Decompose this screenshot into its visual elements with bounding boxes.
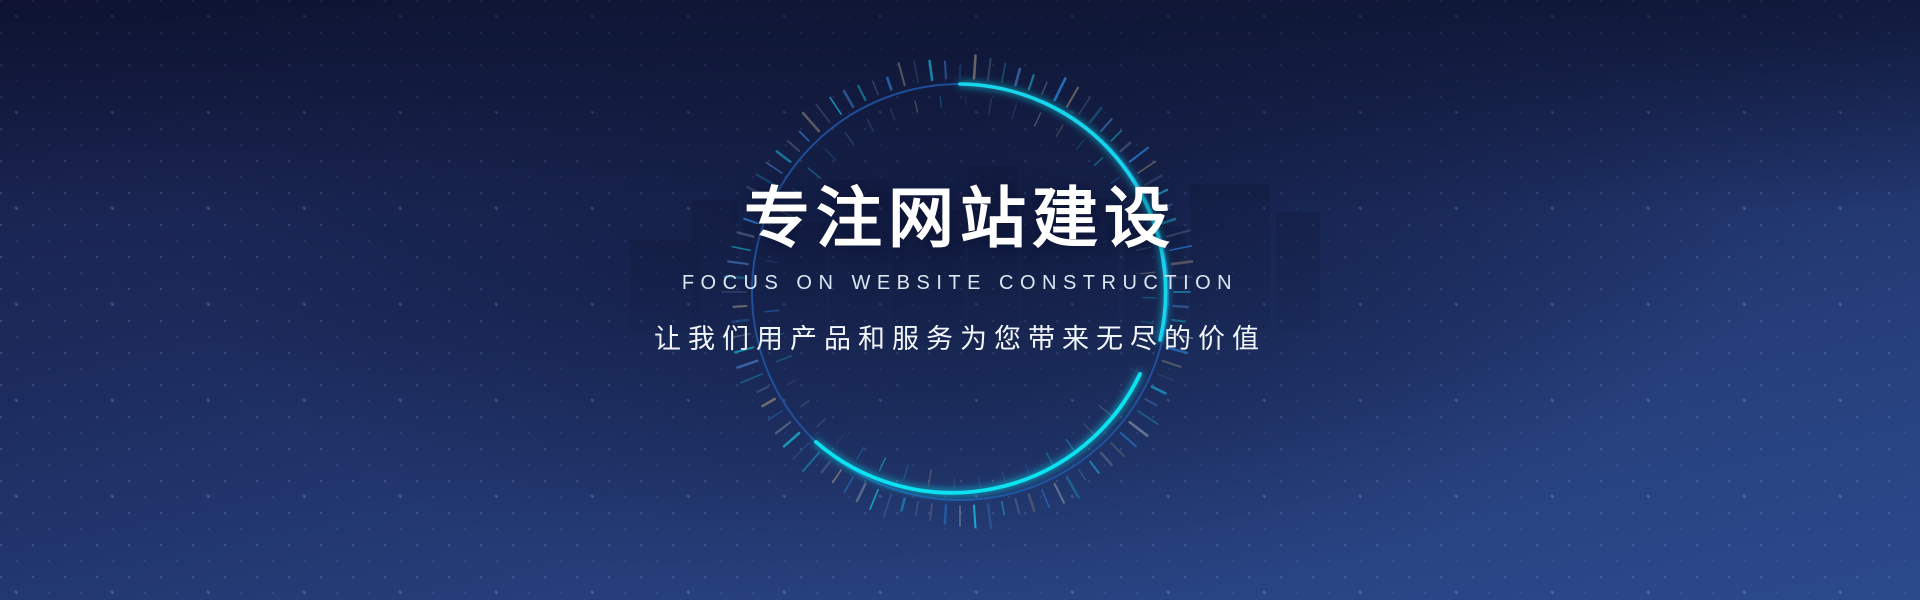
tick-mark — [899, 63, 905, 85]
tick-mark — [902, 499, 905, 511]
tick-mark — [1130, 148, 1148, 162]
tick-mark — [766, 163, 782, 174]
tick-mark — [974, 506, 975, 528]
tick-mark — [1029, 495, 1034, 511]
tick-mark-inner — [1119, 390, 1127, 395]
tick-mark — [1101, 453, 1112, 465]
tick-mark — [930, 504, 932, 520]
tick-mark — [945, 506, 946, 524]
tick-mark — [1158, 374, 1174, 381]
tick-mark — [1079, 97, 1090, 114]
tick-mark-inner — [801, 401, 809, 407]
tick-mark — [803, 113, 819, 131]
ring-arc-bottom — [816, 374, 1140, 493]
tick-mark-inner — [1035, 113, 1041, 126]
tick-mark — [803, 453, 819, 471]
tick-mark — [916, 502, 919, 516]
tick-mark — [930, 61, 932, 80]
hero-banner: 专注网站建设 FOCUS ON WEBSITE CONSTRUCTION 让我们… — [0, 0, 1920, 600]
tick-mark — [776, 422, 790, 433]
tick-mark — [870, 490, 878, 509]
tick-mark-inner — [857, 448, 864, 459]
tick-mark-inner — [904, 465, 908, 479]
tick-mark-inner — [808, 168, 820, 178]
tick-mark — [988, 504, 991, 528]
tick-mark — [858, 86, 865, 100]
tick-mark — [799, 131, 808, 140]
tick-mark — [1090, 108, 1101, 122]
tick-mark — [1111, 443, 1124, 456]
tick-mark-inner — [915, 101, 918, 112]
tick-mark — [988, 59, 991, 80]
tick-mark-inner — [845, 133, 853, 144]
tick-mark — [914, 62, 918, 83]
tick-mark — [830, 97, 841, 114]
tick-mark — [1090, 462, 1099, 473]
tick-mark — [887, 78, 891, 89]
tick-mark-inner — [989, 99, 992, 115]
tick-mark — [1042, 82, 1047, 94]
tick-mark — [737, 361, 757, 368]
tick-mark — [974, 56, 976, 79]
tick-mark — [945, 61, 946, 78]
tick-mark-inner — [1099, 406, 1111, 416]
tick-mark-inner — [1025, 464, 1029, 475]
tick-mark-inner — [1076, 140, 1084, 149]
tick-mark-inner — [929, 470, 932, 486]
tick-mark-inner — [1130, 368, 1139, 372]
tick-mark-inner — [1095, 158, 1103, 166]
tick-mark-inner — [1012, 104, 1016, 118]
tick-mark-inner — [979, 477, 980, 487]
tick-mark-inner — [826, 149, 836, 160]
tick-mark — [1067, 88, 1078, 107]
tick-mark — [1163, 361, 1181, 367]
tick-mark — [1002, 63, 1006, 82]
tick-mark — [1138, 411, 1158, 424]
tick-mark — [1002, 502, 1005, 515]
tick-mark — [884, 495, 891, 517]
tick-mark — [1130, 422, 1147, 435]
tick-mark-inner — [1084, 424, 1094, 435]
tick-mark-inner — [1066, 440, 1074, 451]
tick-mark — [1055, 79, 1066, 101]
tick-mark-inner — [1003, 472, 1006, 483]
tick-mark — [1042, 490, 1049, 508]
tick-mark — [769, 411, 782, 420]
tick-mark — [857, 484, 865, 501]
tick-mark-inner — [940, 97, 941, 107]
tick-mark-inner — [777, 356, 792, 362]
tick-mark-inner — [1047, 453, 1053, 464]
tick-mark — [763, 399, 775, 406]
tick-mark — [1015, 69, 1019, 85]
tick-mark — [844, 91, 853, 107]
tick-mark — [1145, 399, 1156, 406]
tick-mark — [1121, 143, 1130, 151]
tick-mark-inner — [880, 458, 886, 471]
tick-mark — [1079, 470, 1086, 480]
tick-mark — [741, 374, 762, 383]
tick-mark — [845, 477, 854, 492]
tick-mark — [784, 433, 799, 446]
tick-mark — [1152, 387, 1165, 394]
tagline-chinese: 让我们用产品和服务为您带来无尽的价值 — [0, 317, 1920, 356]
tick-mark — [1015, 499, 1019, 513]
tick-mark — [788, 141, 799, 151]
tick-mark — [757, 387, 768, 392]
tick-mark-inner — [890, 109, 894, 120]
tick-mark — [1101, 119, 1112, 131]
tick-mark — [793, 443, 809, 459]
subtitle-english: FOCUS ON WEBSITE CONSTRUCTION — [0, 272, 1920, 295]
tick-mark — [833, 470, 841, 482]
tick-mark-inner — [836, 435, 844, 444]
tick-mark-inner — [1056, 125, 1063, 136]
tick-mark — [873, 81, 878, 94]
tick-mark — [822, 462, 830, 472]
tick-mark — [816, 105, 829, 122]
tick-mark — [1111, 131, 1121, 141]
page-title: 专注网站建设 — [0, 186, 1920, 252]
tick-mark — [1055, 484, 1064, 503]
tick-mark-inner — [817, 419, 825, 427]
tick-mark-inner — [867, 119, 873, 130]
tick-mark — [1029, 75, 1034, 89]
hero-text-block: 专注网站建设 FOCUS ON WEBSITE CONSTRUCTION 让我们… — [0, 186, 1920, 356]
tick-mark — [1138, 161, 1155, 173]
tick-mark — [1067, 477, 1079, 497]
tick-mark-inner — [787, 381, 795, 385]
tick-mark — [777, 151, 790, 161]
tick-mark — [1121, 433, 1136, 446]
